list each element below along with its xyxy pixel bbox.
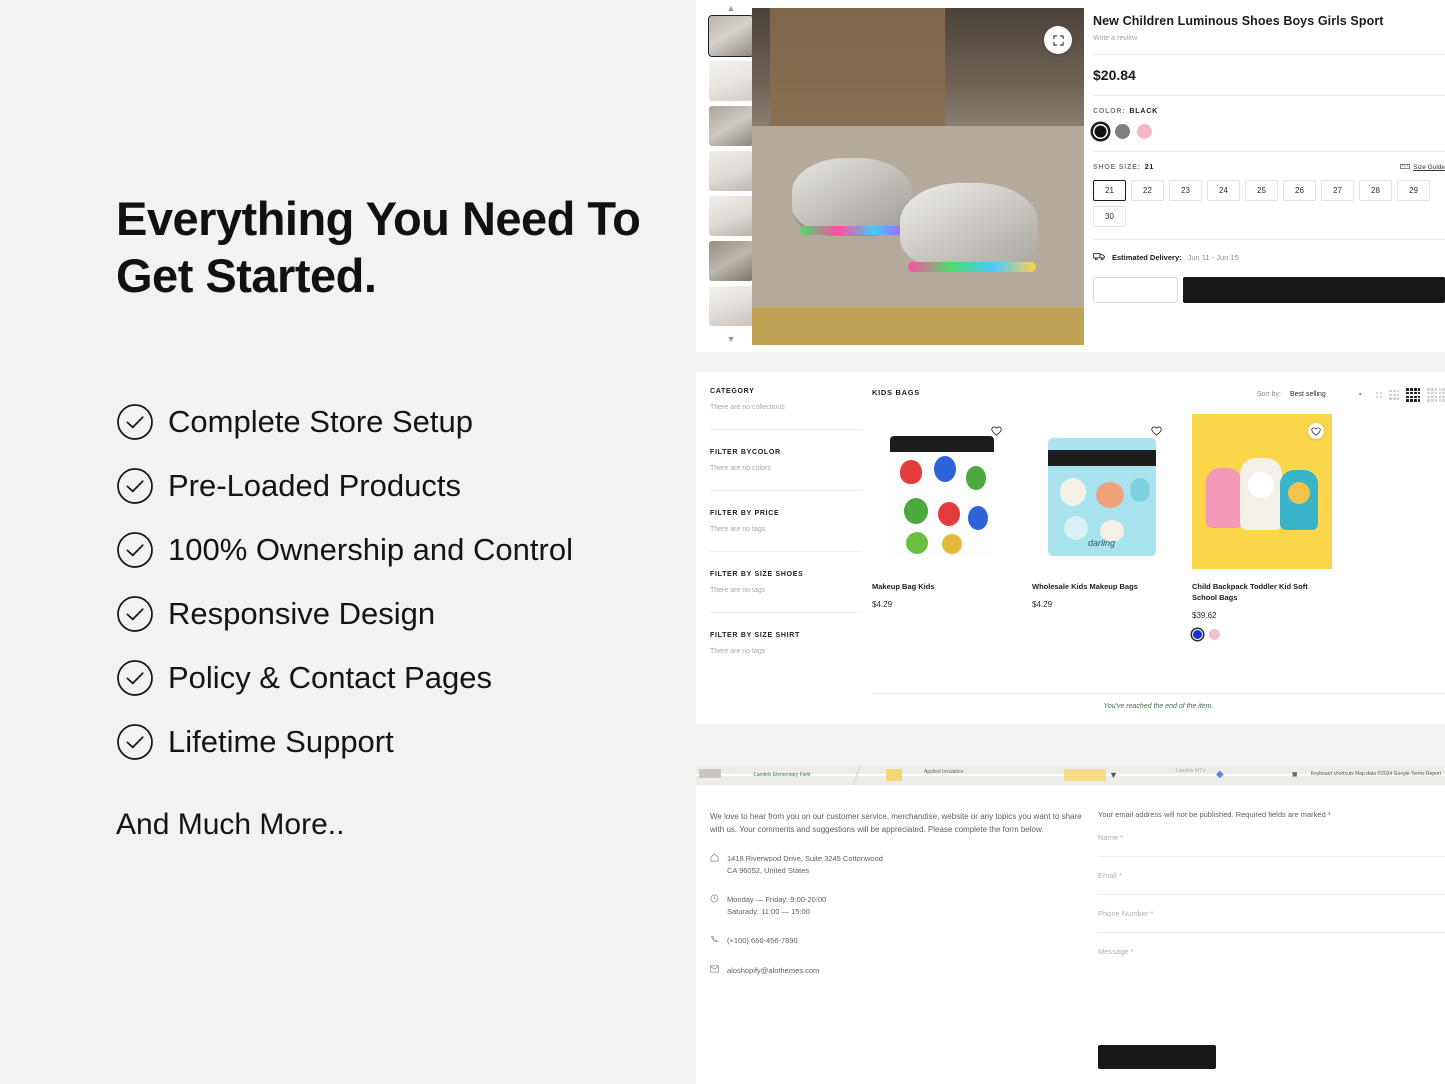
contact-phone-row: (+100) 666-456-7890 — [710, 935, 1090, 948]
submit-button[interactable] — [1098, 1045, 1216, 1069]
thumbnail-down-arrow[interactable]: ▼ — [727, 331, 736, 347]
sort-value[interactable]: Best selling — [1290, 391, 1326, 398]
check-circle-icon — [116, 531, 154, 569]
wishlist-heart-icon[interactable] — [1308, 423, 1324, 439]
thumbnail-up-arrow[interactable]: ▲ — [727, 0, 736, 16]
message-field[interactable]: Message * — [1098, 933, 1445, 1033]
map-label: Applied Insulation — [924, 769, 963, 775]
filter-empty-text: There are no tags — [710, 587, 862, 594]
phone-field[interactable]: Phone Number * — [1098, 895, 1445, 933]
hours-line-2: Saturady: 11:00 — 15:00 — [727, 907, 810, 916]
contact-address-row: 1418 Riverwood Drive, Suite 3245 Cottonw… — [710, 853, 1090, 877]
map-pin-icon: ■ — [1292, 769, 1297, 779]
collection-panel: CATEGORY There are no collections FILTER… — [696, 372, 1445, 724]
contact-hours-row: Monday — Friday: 9:00-20:00 Saturady: 11… — [710, 894, 1090, 918]
contact-intro: We love to hear from you on our customer… — [710, 810, 1090, 836]
add-to-cart-button[interactable] — [1183, 277, 1445, 303]
thumbnail-item[interactable] — [709, 106, 753, 146]
contact-info: We love to hear from you on our customer… — [710, 810, 1090, 977]
thumbnail-item[interactable] — [709, 286, 753, 326]
thumbnail-item[interactable] — [709, 16, 753, 56]
divider — [710, 551, 862, 552]
product-name[interactable]: Wholesale Kids Makeup Bags — [1032, 582, 1172, 593]
estimated-delivery: Estimated Delivery: Jun 11 - Jun 15 — [1093, 252, 1445, 263]
size-option-30[interactable]: 30 — [1093, 206, 1126, 227]
address-line-2: CA 96052, United States — [727, 866, 809, 875]
thumbnail-item[interactable] — [709, 151, 753, 191]
feature-label: Complete Store Setup — [168, 406, 473, 437]
filter-group-color: FILTER BYCOLOR There are no colors — [710, 449, 862, 491]
divider — [1093, 54, 1445, 55]
grid-view-5col-icon[interactable] — [1427, 388, 1445, 402]
size-label-row: SHOE SIZE: 21 — [1093, 164, 1154, 171]
filter-title: FILTER BY PRICE — [710, 510, 862, 517]
feature-list: Complete Store Setup Pre-Loaded Products… — [116, 400, 676, 784]
color-value: BLACK — [1129, 108, 1158, 115]
product-image[interactable] — [1192, 414, 1332, 569]
product-name[interactable]: Makeup Bag Kids — [872, 582, 1012, 593]
thumbnail-item[interactable] — [709, 241, 753, 281]
product-price: $20.84 — [1093, 67, 1445, 83]
feature-label: 100% Ownership and Control — [168, 534, 573, 565]
divider — [710, 429, 862, 430]
check-circle-icon — [116, 723, 154, 761]
size-option-25[interactable]: 25 — [1245, 180, 1278, 201]
chevron-down-icon[interactable]: ▾ — [1359, 391, 1362, 398]
product-detail-panel: ▲ ▼ New Children Luminous — [696, 0, 1445, 352]
contact-email[interactable]: aloshopify@alothemes.com — [727, 965, 819, 977]
color-label-row: COLOR: BLACK — [1093, 108, 1445, 115]
size-option-23[interactable]: 23 — [1169, 180, 1202, 201]
delivery-label: Estimated Delivery: — [1112, 253, 1182, 262]
product-card[interactable]: Makeup Bag Kids $4.29 — [872, 414, 1012, 640]
divider — [1093, 239, 1445, 240]
contact-panel: Landels Elementary Field Applied Insulat… — [696, 765, 1445, 1084]
filter-title: FILTER BYCOLOR — [710, 449, 862, 456]
and-much-more-label: And Much More.. — [116, 808, 344, 842]
divider — [710, 490, 862, 491]
filter-empty-text: There are no tags — [710, 648, 862, 655]
color-swatches[interactable] — [1093, 124, 1445, 139]
map-pin-icon: ◆ — [1216, 769, 1224, 780]
list-item: Complete Store Setup — [116, 400, 676, 443]
size-value: 21 — [1145, 164, 1154, 171]
home-icon — [710, 853, 720, 877]
map-pin-icon: ▼ — [1109, 770, 1118, 780]
email-field[interactable]: Email * — [1098, 857, 1445, 895]
contact-email-row: aloshopify@alothemes.com — [710, 965, 1090, 977]
map-label: Landels Elementary Field — [754, 772, 810, 778]
color-swatch-black[interactable] — [1093, 124, 1108, 139]
product-grid: Makeup Bag Kids $4.29 darling — [872, 414, 1332, 640]
color-label: COLOR: — [1093, 108, 1125, 115]
feature-label: Policy & Contact Pages — [168, 662, 492, 693]
product-info: New Children Luminous Shoes Boys Girls S… — [1093, 0, 1445, 352]
filter-group-size-shoes: FILTER BY SIZE SHOES There are no tags — [710, 571, 862, 613]
map-label: Landels MTV — [1176, 768, 1205, 774]
color-swatch-pink[interactable] — [1137, 124, 1152, 139]
size-option-28[interactable]: 28 — [1359, 180, 1392, 201]
check-circle-icon — [116, 595, 154, 633]
truck-icon — [1093, 252, 1106, 263]
address-line-1: 1418 Riverwood Drive, Suite 3245 Cottonw… — [727, 854, 883, 863]
screenshot-stack: ▲ ▼ New Children Luminous — [696, 0, 1445, 1084]
filter-empty-text: There are no colors — [710, 465, 862, 472]
check-circle-icon — [116, 467, 154, 505]
promo-column: Everything You Need To Get Started. Comp… — [0, 0, 696, 1084]
contact-hours: Monday — Friday: 9:00-20:00 Saturady: 11… — [727, 894, 826, 918]
size-option-21[interactable]: 21 — [1093, 180, 1126, 201]
map-attribution: Keyboard shortcuts Map data ©2024 Google… — [1311, 771, 1441, 777]
product-hero-image[interactable] — [752, 8, 1084, 345]
contact-address: 1418 Riverwood Drive, Suite 3245 Cottonw… — [727, 853, 883, 877]
feature-label: Lifetime Support — [168, 726, 394, 757]
list-item: 100% Ownership and Control — [116, 528, 676, 571]
size-header: SHOE SIZE: 21 Size Guide — [1093, 164, 1445, 171]
thumbnail-item[interactable] — [709, 61, 753, 101]
form-note: Your email address will not be published… — [1098, 810, 1445, 819]
end-of-list-note: You've reached the end of the item. — [872, 693, 1445, 710]
clock-icon — [710, 894, 720, 918]
size-options[interactable]: 21 22 23 24 25 26 27 28 29 30 — [1093, 180, 1445, 227]
product-card[interactable]: darling Wholesale Kids Makeup Bags $4.29 — [1032, 414, 1172, 640]
filter-empty-text: There are no tags — [710, 526, 862, 533]
thumbnail-item[interactable] — [709, 196, 753, 236]
color-swatch-grey[interactable] — [1115, 124, 1130, 139]
filter-title: FILTER BY SIZE SHOES — [710, 571, 862, 578]
divider — [1093, 151, 1445, 152]
page-title: Everything You Need To Get Started. — [116, 190, 656, 305]
ruler-icon — [1400, 164, 1410, 171]
feature-label: Responsive Design — [168, 598, 435, 629]
purchase-row — [1093, 277, 1445, 303]
size-option-29[interactable]: 29 — [1397, 180, 1430, 201]
size-option-26[interactable]: 26 — [1283, 180, 1316, 201]
quantity-stepper[interactable] — [1093, 277, 1178, 303]
grid-view-3col-icon[interactable] — [1389, 390, 1399, 400]
product-card[interactable]: Child Backpack Toddler Kid Soft School B… — [1192, 414, 1332, 640]
filter-title: FILTER BY SIZE SHIRT — [710, 632, 862, 639]
product-image[interactable]: darling — [1032, 414, 1172, 569]
list-item: Policy & Contact Pages — [116, 656, 676, 699]
list-item: Pre-Loaded Products — [116, 464, 676, 507]
wishlist-heart-icon[interactable] — [988, 423, 1004, 439]
sort-bar: Sort by: Best selling ▾ — [1257, 388, 1445, 402]
contact-form: Your email address will not be published… — [1098, 810, 1445, 1069]
size-guide-link[interactable]: Size Guide — [1400, 164, 1445, 171]
filter-group-price: FILTER BY PRICE There are no tags — [710, 510, 862, 552]
phone-icon — [710, 935, 720, 948]
hours-line-1: Monday — Friday: 9:00-20:00 — [727, 895, 826, 904]
list-item: Responsive Design — [116, 592, 676, 635]
list-item: Lifetime Support — [116, 720, 676, 763]
product-color-swatches[interactable] — [1192, 629, 1332, 640]
wishlist-heart-icon[interactable] — [1148, 423, 1164, 439]
grid-view-2col-icon[interactable] — [1376, 392, 1382, 398]
product-price: $39.62 — [1192, 611, 1332, 620]
map-strip[interactable]: Landels Elementary Field Applied Insulat… — [696, 765, 1445, 785]
grid-view-4col-icon[interactable] — [1406, 388, 1420, 402]
product-name[interactable]: Child Backpack Toddler Kid Soft School B… — [1192, 582, 1332, 604]
check-circle-icon — [116, 403, 154, 441]
product-price: $4.29 — [1032, 600, 1172, 609]
filter-title: CATEGORY — [710, 388, 862, 395]
size-guide-label: Size Guide — [1413, 164, 1445, 171]
divider — [1093, 95, 1445, 96]
write-review-link[interactable]: Write a review — [1093, 35, 1445, 42]
filter-empty-text: There are no collections — [710, 404, 862, 411]
product-price: $4.29 — [872, 600, 1012, 609]
name-field[interactable]: Name * — [1098, 819, 1445, 857]
filter-group-size-shirt: FILTER BY SIZE SHIRT There are no tags — [710, 632, 862, 655]
card-swatch-blue[interactable] — [1192, 629, 1203, 640]
product-title: New Children Luminous Shoes Boys Girls S… — [1093, 14, 1445, 28]
expand-image-icon[interactable] — [1044, 26, 1072, 54]
size-option-22[interactable]: 22 — [1131, 180, 1164, 201]
grid-view-switcher[interactable] — [1376, 388, 1445, 402]
product-image[interactable] — [872, 414, 1012, 569]
card-swatch-pink[interactable] — [1209, 629, 1220, 640]
size-option-24[interactable]: 24 — [1207, 180, 1240, 201]
size-label: SHOE SIZE: — [1093, 164, 1141, 171]
feature-label: Pre-Loaded Products — [168, 470, 461, 501]
filter-sidebar: CATEGORY There are no collections FILTER… — [710, 388, 862, 674]
divider — [710, 612, 862, 613]
size-option-27[interactable]: 27 — [1321, 180, 1354, 201]
delivery-value: Jun 11 - Jun 15 — [1188, 253, 1239, 262]
mail-icon — [710, 965, 720, 977]
check-circle-icon — [116, 659, 154, 697]
contact-phone[interactable]: (+100) 666-456-7890 — [727, 935, 798, 948]
thumbnail-gallery[interactable]: ▲ ▼ — [706, 0, 756, 352]
sort-label: Sort by: — [1257, 391, 1281, 398]
filter-group-category: CATEGORY There are no collections — [710, 388, 862, 430]
